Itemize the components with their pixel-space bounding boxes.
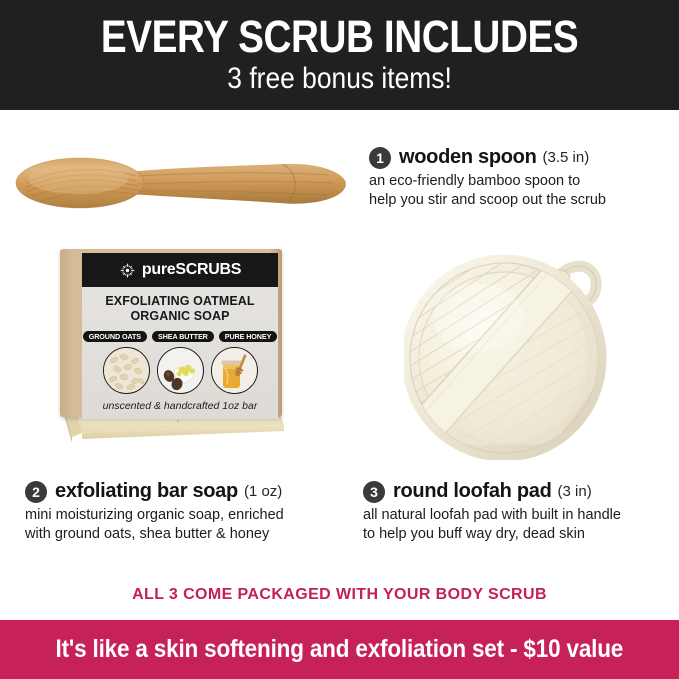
soap-label-title: EXFOLIATING OATMEAL ORGANIC SOAP: [105, 294, 254, 324]
item-2-desc-line1: mini moisturizing organic soap, enriched: [25, 506, 340, 525]
item-1-desc-line2: help you stir and scoop out the scrub: [369, 191, 669, 210]
brand-name: pureSCRUBS: [142, 261, 241, 279]
soap-title-line2: ORGANIC SOAP: [105, 309, 254, 324]
soap-title-line1: EXFOLIATING OATMEAL: [105, 294, 254, 309]
item-2-text-block: 2 exfoliating bar soap (1 oz) mini moist…: [25, 480, 340, 544]
bar-soap-image: pureSCRUBS EXFOLIATING OATMEAL ORGANIC S…: [52, 243, 302, 453]
item-1-desc-line1: an eco-friendly bamboo spoon to: [369, 172, 669, 191]
footer-note: ALL 3 COME PACKAGED WITH YOUR BODY SCRUB: [0, 586, 679, 604]
soap-label: pureSCRUBS EXFOLIATING OATMEAL ORGANIC S…: [82, 253, 278, 419]
shea-butter-photo-icon: [157, 347, 204, 394]
number-badge-3: 3: [363, 481, 385, 503]
ingredient-badge-pure-honey: PURE HONEY: [219, 331, 278, 342]
purescrubs-logo-icon: [119, 262, 136, 279]
number-badge-2: 2: [25, 481, 47, 503]
header-banner: EVERY SCRUB INCLUDES 3 free bonus items!: [0, 0, 679, 110]
ingredient-badge-ground-oats: GROUND OATS: [83, 331, 147, 342]
item-3-size: (3 in): [558, 483, 592, 500]
item-2-desc-line2: with ground oats, shea butter & honey: [25, 525, 340, 544]
item-2-name: exfoliating bar soap: [55, 480, 238, 503]
item-2-size: (1 oz): [244, 483, 282, 500]
item-3-desc-line2: to help you buff way dry, dead skin: [363, 525, 673, 544]
ingredient-badge-shea-butter: SHEA BUTTER: [152, 331, 214, 342]
ingredient-badge-row: GROUND OATS SHEA BUTTER PURE HONEY: [83, 331, 278, 342]
footer-value-banner: It's like a skin softening and exfoliati…: [0, 620, 679, 679]
infographic-page: EVERY SCRUB INCLUDES 3 free bonus items!: [0, 0, 679, 679]
item-3-name: round loofah pad: [393, 480, 552, 503]
item-3-desc-line1: all natural loofah pad with built in han…: [363, 506, 673, 525]
honey-jar-photo-icon: [211, 347, 258, 394]
ingredient-photo-row: [103, 347, 258, 394]
header-subtitle: 3 free bonus items!: [227, 62, 452, 96]
soap-label-footer: unscented & handcrafted 1oz bar: [103, 400, 258, 412]
item-1-heading: 1 wooden spoon (3.5 in): [369, 146, 669, 169]
soap-kraft-sleeve: pureSCRUBS EXFOLIATING OATMEAL ORGANIC S…: [60, 249, 282, 417]
item-1-text-block: 1 wooden spoon (3.5 in) an eco-friendly …: [369, 146, 669, 210]
oats-photo-icon: [103, 347, 150, 394]
item-1-name: wooden spoon: [399, 146, 537, 169]
wooden-spoon-image: [8, 148, 353, 218]
item-3-text-block: 3 round loofah pad (3 in) all natural lo…: [363, 480, 673, 544]
item-3-heading: 3 round loofah pad (3 in): [363, 480, 673, 503]
loofah-pad-image: [404, 238, 634, 460]
footer-banner-text: It's like a skin softening and exfoliati…: [56, 635, 624, 664]
header-title: EVERY SCRUB INCLUDES: [101, 14, 578, 60]
soap-label-brand-bar: pureSCRUBS: [82, 253, 278, 287]
item-1-size: (3.5 in): [543, 149, 590, 166]
item-2-heading: 2 exfoliating bar soap (1 oz): [25, 480, 340, 503]
number-badge-1: 1: [369, 147, 391, 169]
